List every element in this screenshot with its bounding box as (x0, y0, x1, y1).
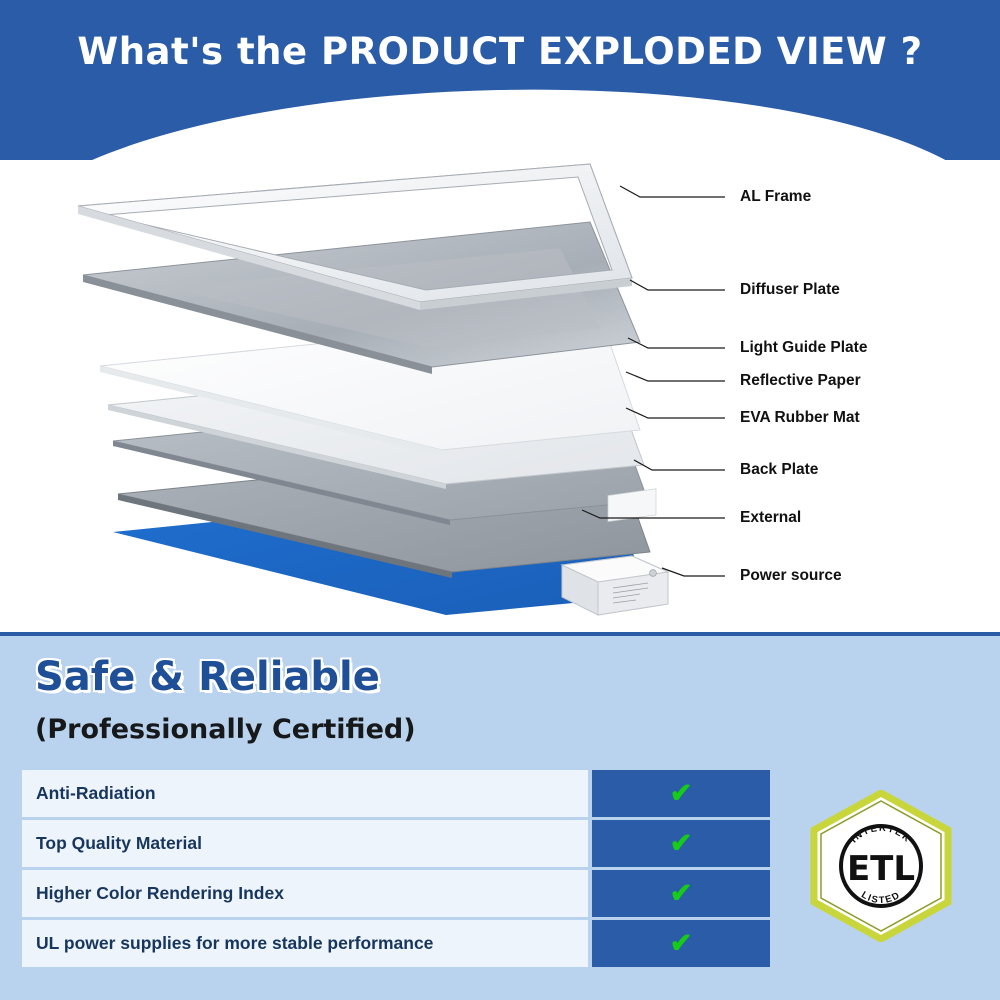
header-band: What's the PRODUCT EXPLODED VIEW ? (0, 0, 1000, 160)
check-icon: ✔ (670, 930, 693, 957)
cert-check-cell: ✔ (592, 820, 770, 867)
cert-check-cell: ✔ (592, 770, 770, 817)
table-row: UL power supplies for more stable perfor… (22, 920, 770, 967)
check-icon: ✔ (670, 830, 693, 857)
cert-label: Anti-Radiation (22, 770, 588, 817)
check-icon: ✔ (670, 780, 693, 807)
cert-check-cell: ✔ (592, 920, 770, 967)
label-light-guide-plate: Light Guide Plate (740, 339, 867, 357)
label-al-frame: AL Frame (740, 188, 811, 206)
label-eva-rubber-mat: EVA Rubber Mat (740, 409, 860, 427)
label-power-source: Power source (740, 567, 842, 585)
etl-main-text: ETL (847, 849, 915, 889)
cert-label: UL power supplies for more stable perfor… (22, 920, 588, 967)
label-diffuser-plate: Diffuser Plate (740, 281, 840, 299)
etl-badge-svg: ETL INTERTEK LISTED (806, 790, 956, 942)
exploded-view-diagram: AL Frame Diffuser Plate Light Guide Plat… (0, 160, 1000, 630)
layer-diffuser-plate (83, 222, 640, 374)
table-row: Anti-Radiation ✔ (22, 770, 770, 817)
section-divider (0, 632, 1000, 636)
safe-reliable-subtitle: (Professionally Certified) (35, 714, 416, 745)
etl-badge: ETL INTERTEK LISTED (806, 790, 956, 942)
cert-check-cell: ✔ (592, 870, 770, 917)
label-external: External (740, 509, 801, 527)
cert-label: Top Quality Material (22, 820, 588, 867)
poster-root: What's the PRODUCT EXPLODED VIEW ? (0, 0, 1000, 1000)
table-row: Higher Color Rendering Index ✔ (22, 870, 770, 917)
check-icon: ✔ (670, 880, 693, 907)
exploded-layers-svg (0, 160, 1000, 630)
safe-reliable-title: Safe & Reliable (35, 654, 380, 700)
label-back-plate: Back Plate (740, 461, 818, 479)
page-title: What's the PRODUCT EXPLODED VIEW ? (0, 30, 1000, 73)
table-row: Top Quality Material ✔ (22, 820, 770, 867)
label-reflective-paper: Reflective Paper (740, 372, 861, 390)
certification-table: Anti-Radiation ✔ Top Quality Material ✔ … (22, 770, 770, 970)
header-curve-white (0, 79, 1000, 160)
cert-label: Higher Color Rendering Index (22, 870, 588, 917)
